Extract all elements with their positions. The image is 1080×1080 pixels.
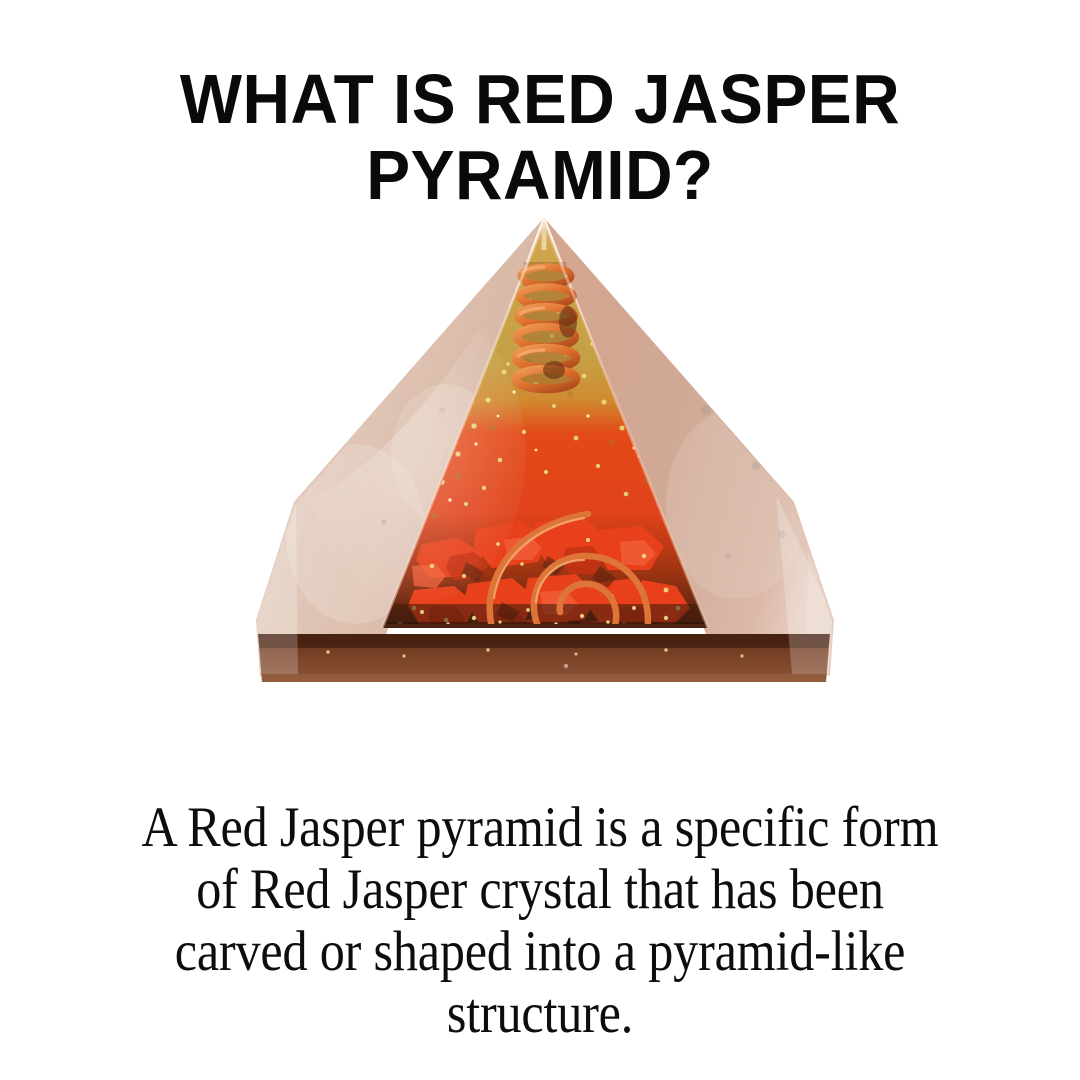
pyramid-base [258,634,830,682]
product-photo [0,186,1080,734]
description-text: A Red Jasper pyramid is a specific form … [72,797,1008,1045]
infographic-page: WHAT IS RED JASPER PYRAMID? [0,0,1080,1080]
red-jasper-pyramid-image [236,204,852,729]
pyramid-illustration [236,204,852,729]
